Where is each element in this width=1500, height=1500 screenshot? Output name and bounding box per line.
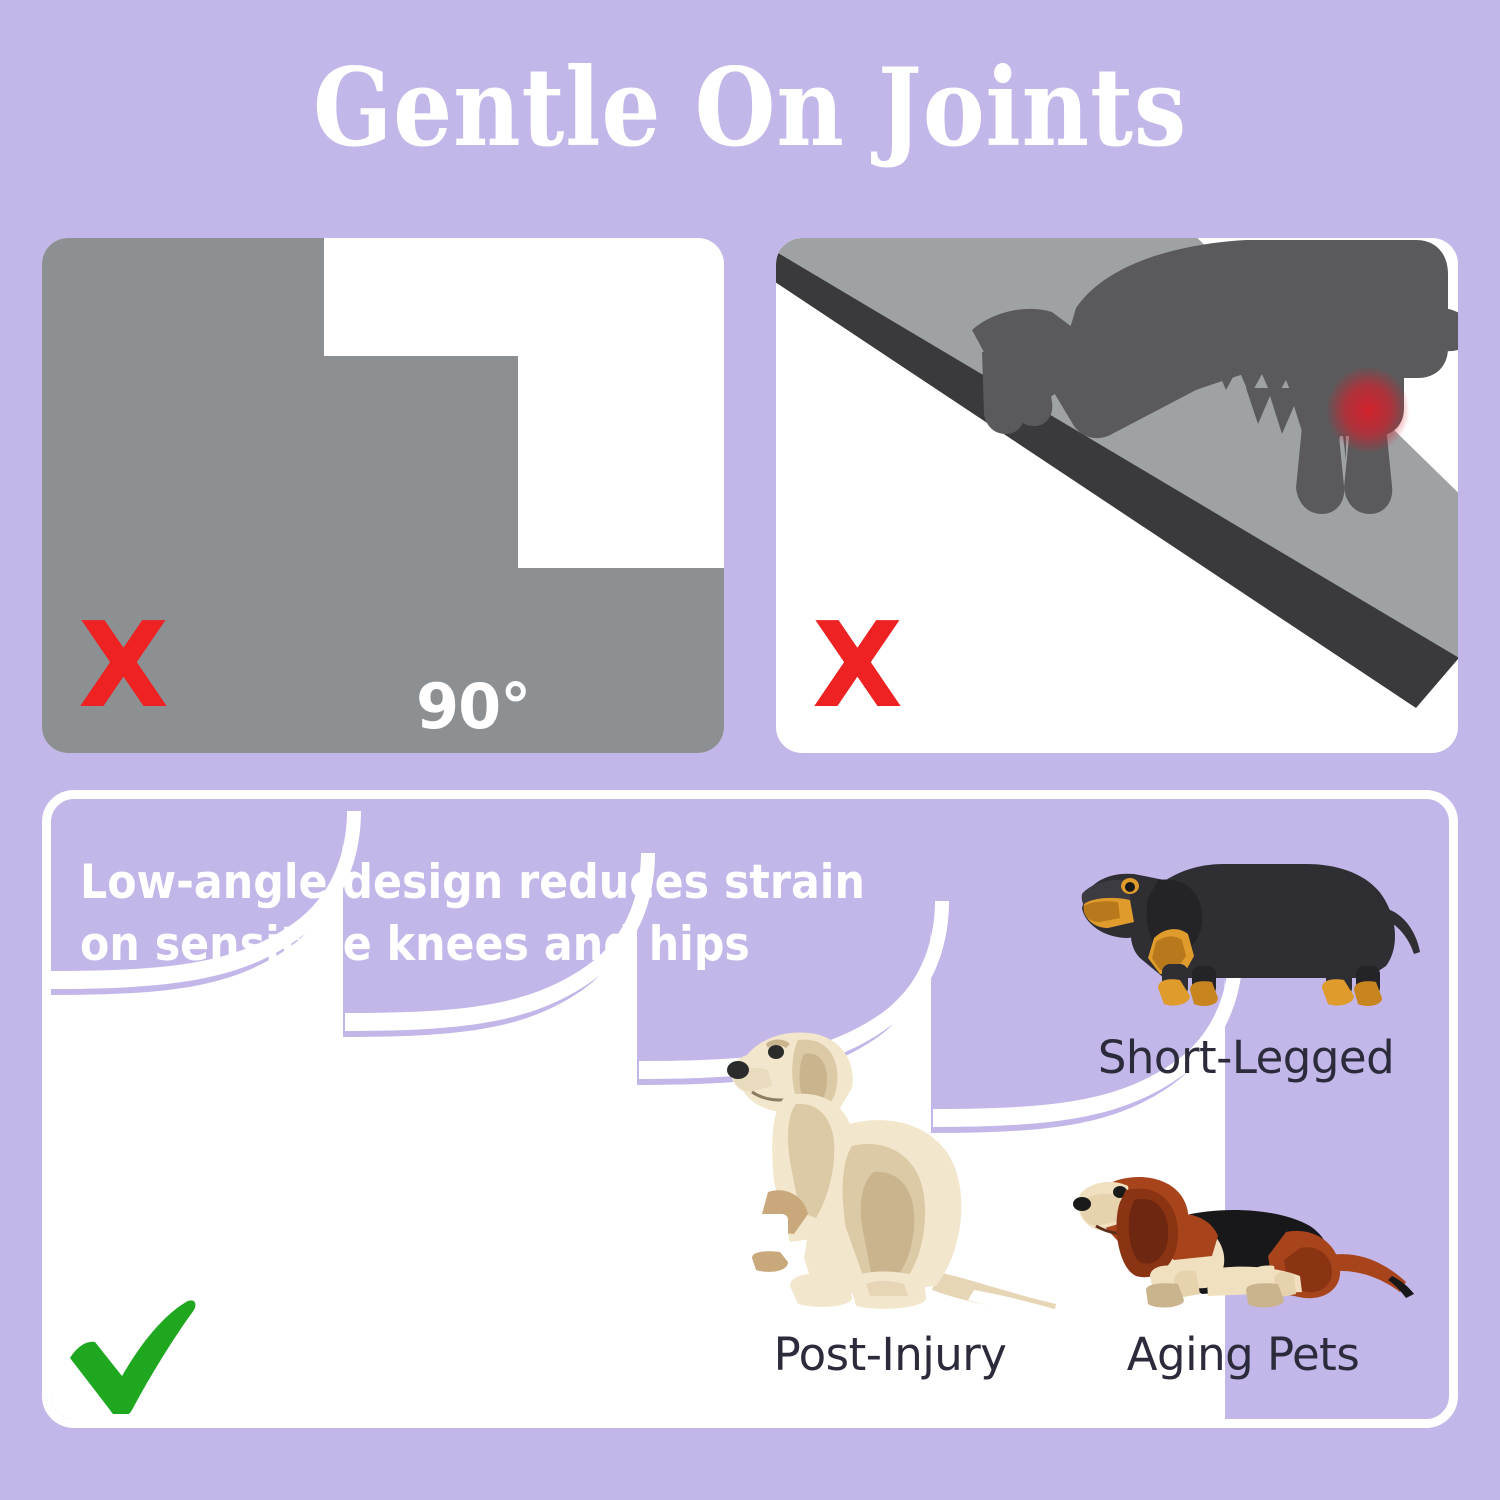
steep-step-panel: 90° X: [42, 238, 724, 753]
caption-aging-pets: Aging Pets: [1062, 1330, 1424, 1380]
angle-label: 90°: [416, 676, 530, 738]
caption-post-injury: Post-Injury: [720, 1330, 1060, 1380]
cross-icon-ramp: X: [812, 606, 903, 724]
dog-illustration-basset: [1062, 1164, 1424, 1324]
check-icon: [62, 1288, 202, 1414]
headline-text: Low-angle design reduces strain on sensi…: [80, 852, 881, 976]
steep-ramp-panel: X: [776, 238, 1458, 753]
infographic-root: Gentle On Joints 90° X: [0, 0, 1500, 1500]
page-title: Gentle On Joints: [105, 52, 1395, 164]
dog-illustration-dachshund: [1068, 846, 1420, 1026]
dog-illustration-labrador: [724, 1022, 1064, 1322]
pain-indicator: [1326, 366, 1410, 454]
caption-short-legged: Short-Legged: [1060, 1033, 1432, 1083]
cross-icon-step: X: [78, 606, 169, 724]
